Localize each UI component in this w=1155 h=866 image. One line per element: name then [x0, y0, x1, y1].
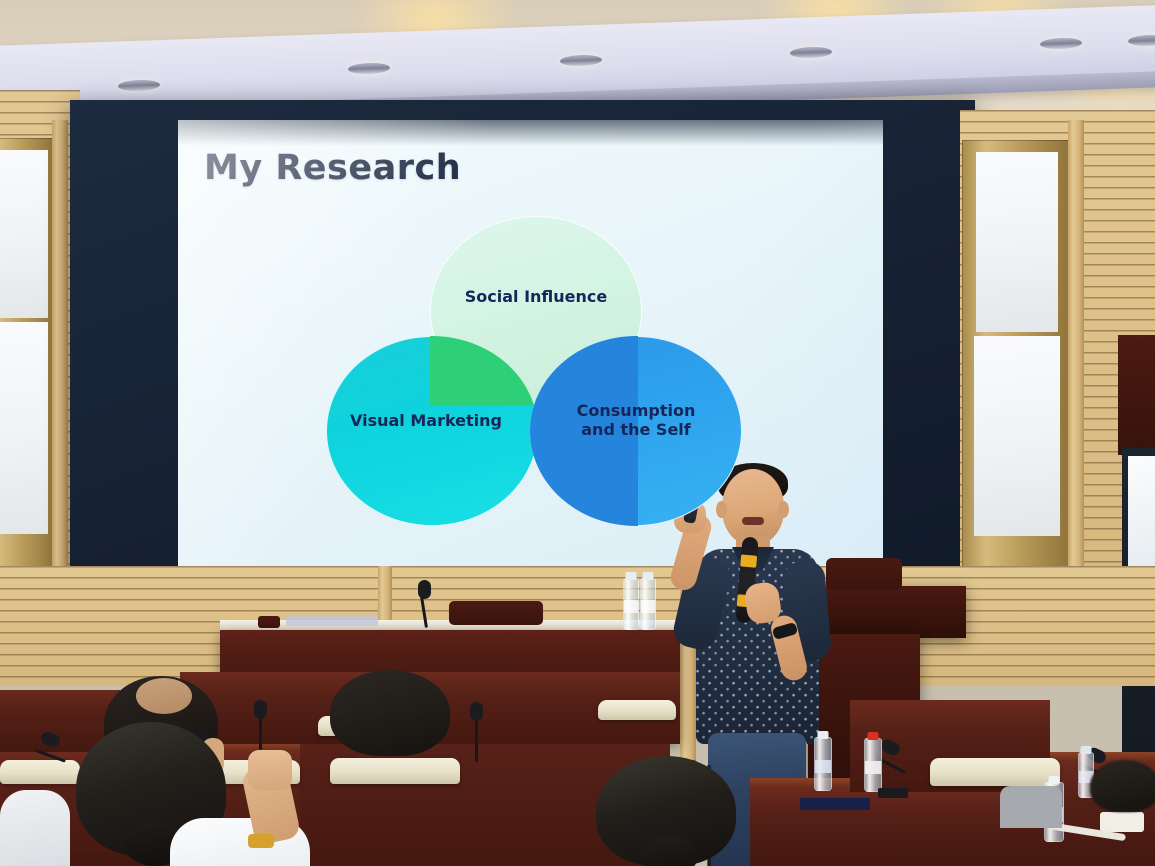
lecture-hall-photo: My Research Social Influence Visual Mark…: [0, 0, 1155, 866]
water-bottle[interactable]: [814, 737, 832, 791]
audience-member-bun-left: [52, 722, 352, 866]
audience-member-bun-center: [580, 756, 760, 866]
audience-chair-back[interactable]: [930, 758, 1060, 786]
audience-member-long-hair: [330, 670, 450, 756]
audience-hair: [1090, 760, 1155, 812]
audience-shoulder: [1000, 786, 1062, 828]
left-wall-trim-post: [52, 120, 68, 580]
audience-desk-right: [750, 788, 1010, 866]
wall-notice-board: [1118, 335, 1155, 455]
presenter-chair-back[interactable]: [449, 601, 543, 625]
water-bottle[interactable]: [623, 578, 639, 630]
venn-label-social-influence: Social Influence: [430, 288, 642, 307]
slide-title: My Research: [204, 148, 461, 188]
desk-paper: [286, 616, 378, 626]
audience-hair: [330, 670, 450, 756]
venn-diagram: Social Influence Visual Marketing Consum…: [318, 216, 748, 536]
right-whiteboard-panel-top: [976, 152, 1058, 332]
right-wall-trim-post: [1068, 120, 1084, 590]
desk-device[interactable]: [258, 616, 280, 628]
desk-mousepad: [800, 798, 870, 810]
venn-circle-visual-marketing: [326, 336, 538, 526]
gooseneck-microphone[interactable]: [470, 702, 490, 758]
right-whiteboard-panel-bottom: [974, 336, 1060, 536]
water-bottle-red-cap[interactable]: [864, 738, 882, 792]
audience-member-far-right: [1090, 760, 1155, 830]
desk-device[interactable]: [878, 788, 908, 798]
audience-raised-hand: [248, 750, 292, 790]
gooseneck-microphone[interactable]: [884, 738, 904, 780]
audience-shoulder-left: [0, 790, 70, 866]
speaker-ear-left: [716, 501, 727, 518]
audience-bracelet: [248, 834, 274, 848]
water-bottle[interactable]: [640, 578, 656, 630]
left-whiteboard-panel-top: [0, 150, 48, 318]
gooseneck-microphone[interactable]: [418, 580, 438, 626]
speaker-mouth: [742, 517, 764, 525]
audience-scalp: [136, 678, 192, 714]
screen-top-shadow: [178, 120, 883, 146]
venn-label-visual-marketing: Visual Marketing: [314, 412, 538, 431]
venn-label-consumption-self: Consumption and the Self: [530, 402, 742, 439]
audience-chair-back[interactable]: [598, 700, 676, 720]
speaker-ear-right: [778, 501, 789, 518]
speaker-head: [722, 469, 784, 545]
left-whiteboard-panel-bottom: [0, 322, 48, 534]
